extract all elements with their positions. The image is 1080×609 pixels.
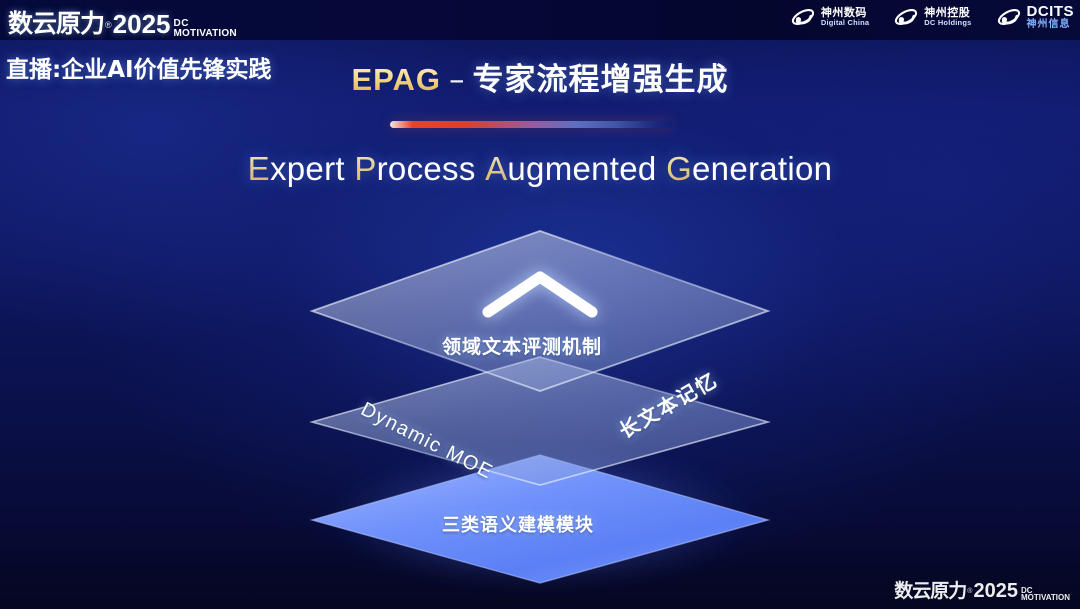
top-layer-plate (312, 231, 768, 391)
partner-name-en: DC Holdings (924, 19, 971, 27)
diagram-layer-top[interactable] (312, 231, 768, 391)
partner-text-block: 神州控股 DC Holdings (924, 7, 971, 26)
watermark-dc-line2: MOTIVATION (1021, 594, 1070, 602)
corner-watermark-logo: 数云原力 ® 2025 DC MOTIVATION (894, 576, 1070, 603)
subtitle-initial-g: G (666, 150, 692, 187)
partner-text-block: DCITS 神州信息 (1027, 4, 1075, 30)
watermark-registered-mark: ® (967, 588, 972, 595)
slide-canvas: 数云原力 ® 2025 DC MOTIVATION 直播:企业AI价值先锋实践 … (0, 0, 1080, 609)
watermark-chinese-name: 数云原力 (894, 576, 966, 603)
brand-chinese-name: 数云原力 (8, 4, 104, 40)
partner-text-block: 神州数码 Digital China (821, 7, 869, 26)
subtitle-initial-e: E (248, 150, 270, 187)
partner-logo-dc-holdings: 神州控股 DC Holdings (893, 4, 971, 30)
brand-dc-motivation: DC MOTIVATION (174, 19, 237, 38)
slide-title: EPAG–专家流程增强生成 (0, 54, 1080, 99)
watermark-dc-motivation: DC MOTIVATION (1021, 587, 1070, 602)
subtitle-initial-a: A (485, 150, 507, 187)
partner-name-en: Digital China (821, 19, 869, 27)
event-brand-logo: 数云原力 ® 2025 DC MOTIVATION (8, 4, 237, 40)
subtitle-word-process: rocess (377, 150, 476, 187)
swirl-icon (790, 4, 816, 30)
partner-logo-dcits: DCITS 神州信息 (996, 4, 1075, 30)
partner-logo-group: 神州数码 Digital China 神州控股 DC Holdings (790, 4, 1074, 30)
diagram-svg (290, 225, 790, 585)
title-dash: – (449, 62, 465, 98)
title-chinese: 专家流程增强生成 (473, 62, 729, 98)
brand-year: 2025 (113, 9, 171, 40)
brand-registered-mark: ® (105, 20, 112, 30)
partner-name-cn: 神州信息 (1027, 20, 1075, 31)
subtitle-word-expert: xpert (270, 150, 345, 187)
watermark-year: 2025 (973, 580, 1018, 603)
subtitle-word-generation: eneration (692, 150, 832, 187)
title-acronym: EPAG (351, 62, 441, 97)
swirl-icon (893, 4, 919, 30)
swirl-icon (996, 4, 1022, 30)
subtitle-initial-p: P (354, 150, 376, 187)
brand-dc-line2: MOTIVATION (174, 29, 237, 39)
slide-subtitle: Expert Process Augmented Generation (0, 150, 1080, 188)
layered-architecture-diagram: 领域文本评测机制 Dynamic MOE 长文本记忆 三类语义建模模块 (290, 225, 790, 585)
partner-logo-digital-china: 神州数码 Digital China (790, 4, 869, 30)
subtitle-word-augmented: ugmented (507, 150, 656, 187)
gradient-divider (390, 121, 672, 128)
partner-name-en: DCITS (1027, 4, 1075, 20)
